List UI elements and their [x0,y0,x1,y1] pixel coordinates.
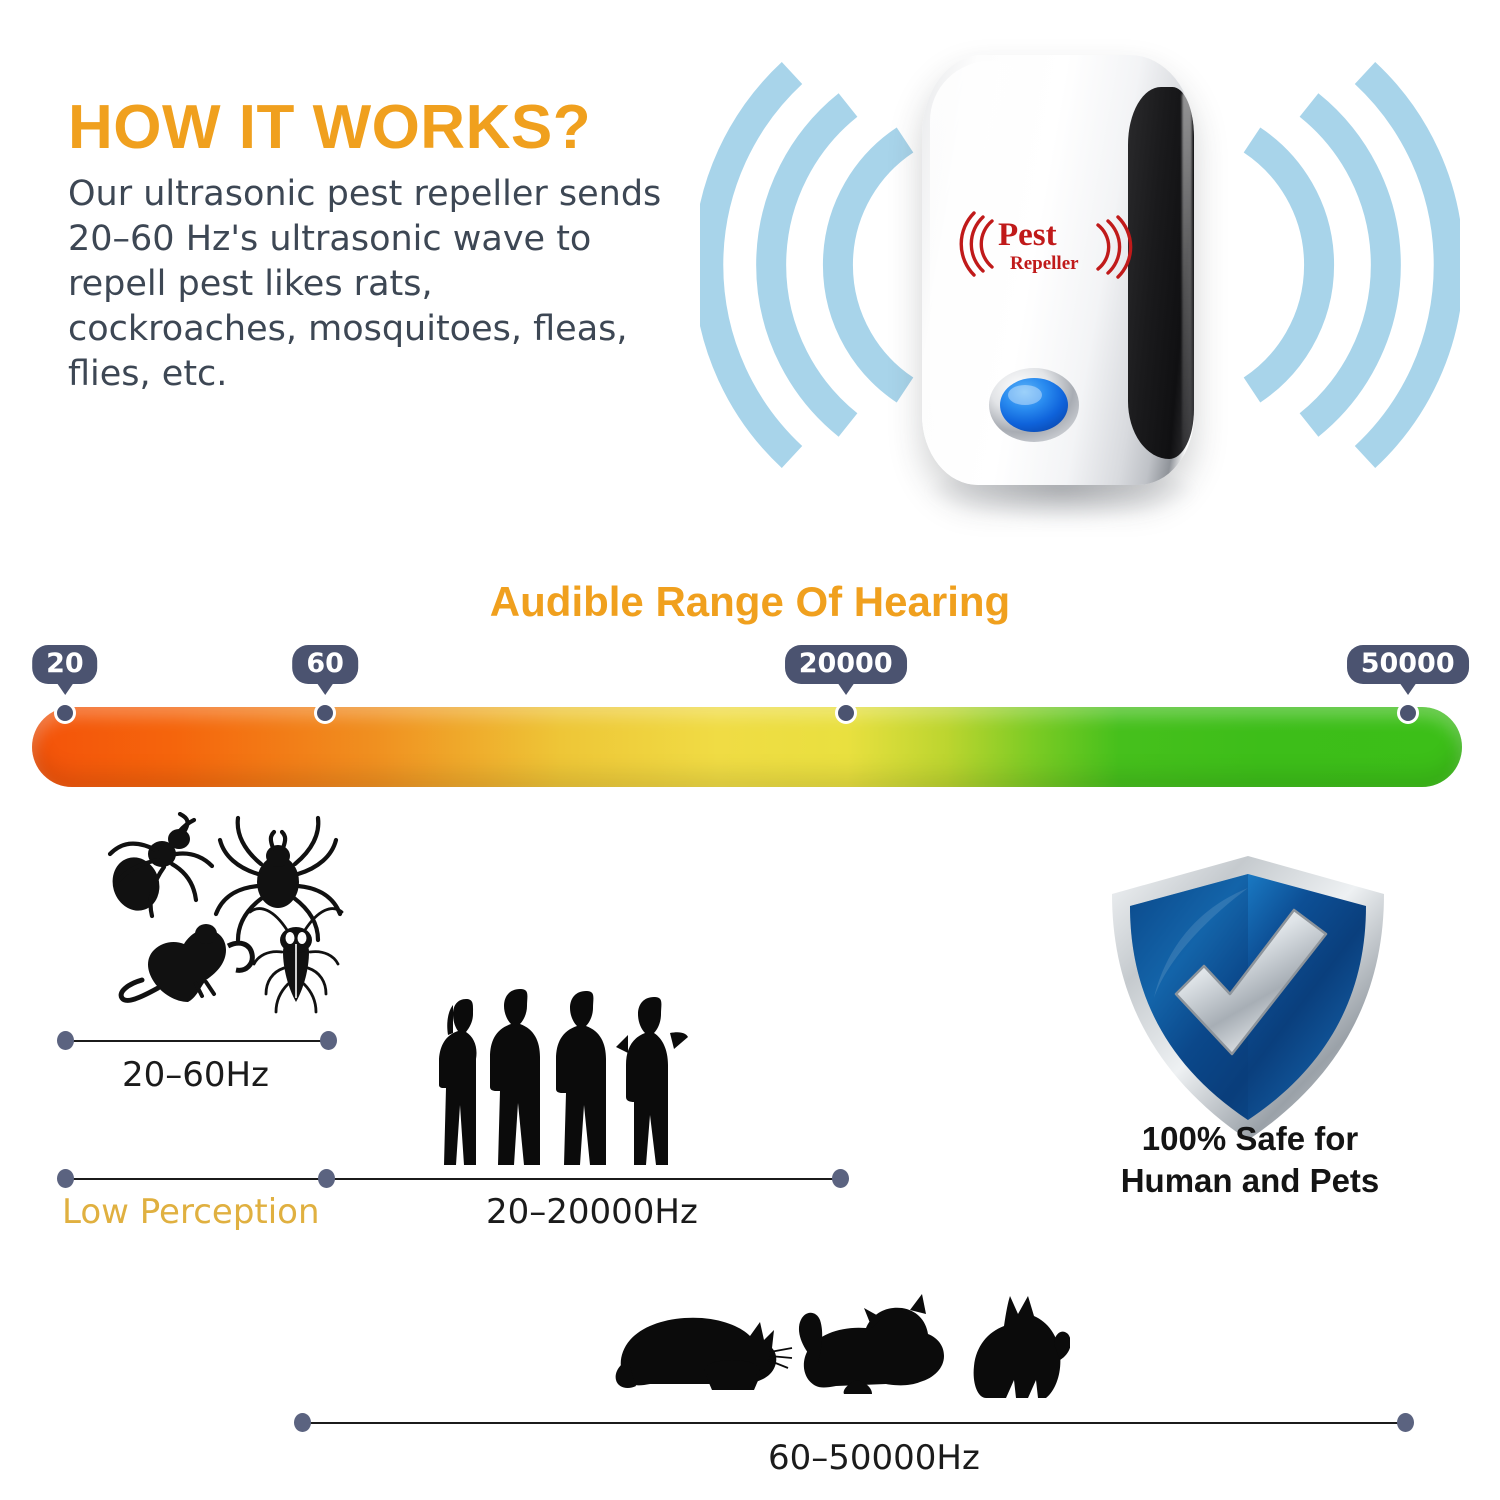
scale-marker-50000: 50000 [1408,645,1500,684]
rat-icon [121,924,252,1002]
intro-paragraph: Our ultrasonic pest repeller sends 20–60… [68,172,668,397]
scale-marker-20: 20 [65,645,131,684]
pet-range-dot-left [294,1413,311,1432]
human-range-line [65,1178,840,1180]
human-silhouette-icon [556,991,606,1165]
pest-range-label: 20–60Hz [122,1055,269,1095]
pest-range-dot-left [57,1031,74,1050]
page-title: HOW IT WORKS? [68,92,591,163]
human-silhouette-icon [616,997,688,1165]
spider-icon [216,818,340,940]
scale-marker-dot [54,702,76,724]
dog-lying-icon [799,1294,944,1394]
ant-icon [106,814,212,917]
scale-marker-label: 60 [292,645,358,684]
safety-caption: 100% Safe for Human and Pets [1040,1118,1460,1202]
safety-caption-line2: Human and Pets [1040,1160,1460,1202]
human-range-dot-left [57,1169,74,1188]
scale-marker-60: 60 [325,645,391,684]
frequency-scale: 20602000050000 [0,645,1500,805]
human-range-dot-right [832,1169,849,1188]
cat-standing-icon [974,1296,1070,1398]
human-silhouette-icon [490,989,540,1165]
scale-marker-dot [314,702,336,724]
human-range-dot-mid [318,1169,335,1188]
low-perception-label: Low Perception [62,1192,320,1232]
scale-marker-label: 50000 [1347,645,1469,684]
human-range-label: 20–20000Hz [486,1192,698,1232]
pest-icon-group [78,812,368,1020]
safety-shield-icon [1098,848,1398,1148]
pet-icon-group [610,1288,1070,1416]
pest-repeller-device: Pest Repeller [922,55,1194,485]
human-silhouette-icon [439,999,477,1165]
cockroach-icon [250,909,342,1012]
scale-marker-dot [835,702,857,724]
device-illustration: Pest Repeller [700,35,1460,535]
scale-marker-label: 20000 [785,645,907,684]
pest-range-dot-right [320,1031,337,1050]
pet-range-label: 60–50000Hz [768,1438,980,1478]
scale-marker-20000: 20000 [846,645,968,684]
scale-marker-dot [1397,702,1419,724]
scale-marker-label: 20 [32,645,98,684]
pet-range-line [302,1422,1405,1424]
device-side-highlight [1182,91,1192,451]
logo-repeller-text: Repeller [1010,253,1079,274]
safety-caption-line1: 100% Safe for [1040,1118,1460,1160]
frequency-gradient-bar [32,707,1462,787]
indicator-button[interactable] [988,367,1080,443]
infographic-root: HOW IT WORKS? Our ultrasonic pest repell… [0,0,1500,1500]
pest-range-line [65,1040,328,1042]
audible-range-title: Audible Range Of Hearing [0,578,1500,626]
human-icon-group [420,975,720,1175]
pet-range-dot-right [1397,1413,1414,1432]
logo-pest-text: Pest [998,217,1057,253]
cat-eating-icon [616,1318,792,1390]
pest-repeller-logo-icon: Pest Repeller [958,205,1138,283]
